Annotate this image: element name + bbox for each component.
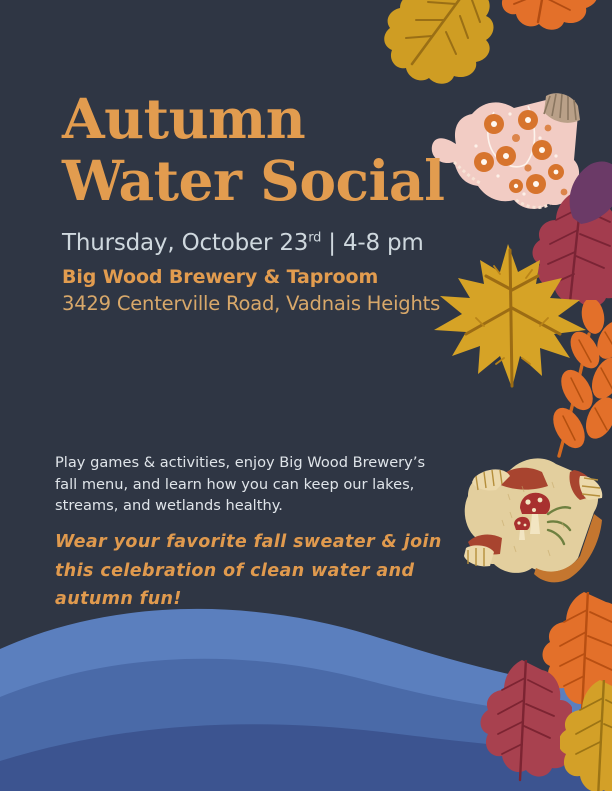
event-time: | 4-8 pm [321,230,423,256]
poster-canvas: Autumn Water Social Thursday, October 23… [0,0,612,791]
venue-name: Big Wood Brewery & Taproom [62,266,378,288]
title-line-1: Autumn [62,86,305,151]
event-date: Thursday, October 23 [62,230,308,256]
title-line-2: Water Social [62,150,444,212]
event-date-time: Thursday, October 23rd | 4-8 pm [62,230,424,256]
sponsor-logos: Vadnais Heights EST. 1983 VLAWMO Vadnais… [0,631,612,791]
page-title: Autumn Water Social [62,88,444,212]
event-callout: Wear your favorite fall sweater & join t… [55,528,445,614]
event-description: Play games & activities, enjoy Big Wood … [55,452,440,517]
date-ordinal-suffix: rd [308,230,321,245]
venue-address: 3429 Centerville Road, Vadnais Heights [62,292,440,315]
